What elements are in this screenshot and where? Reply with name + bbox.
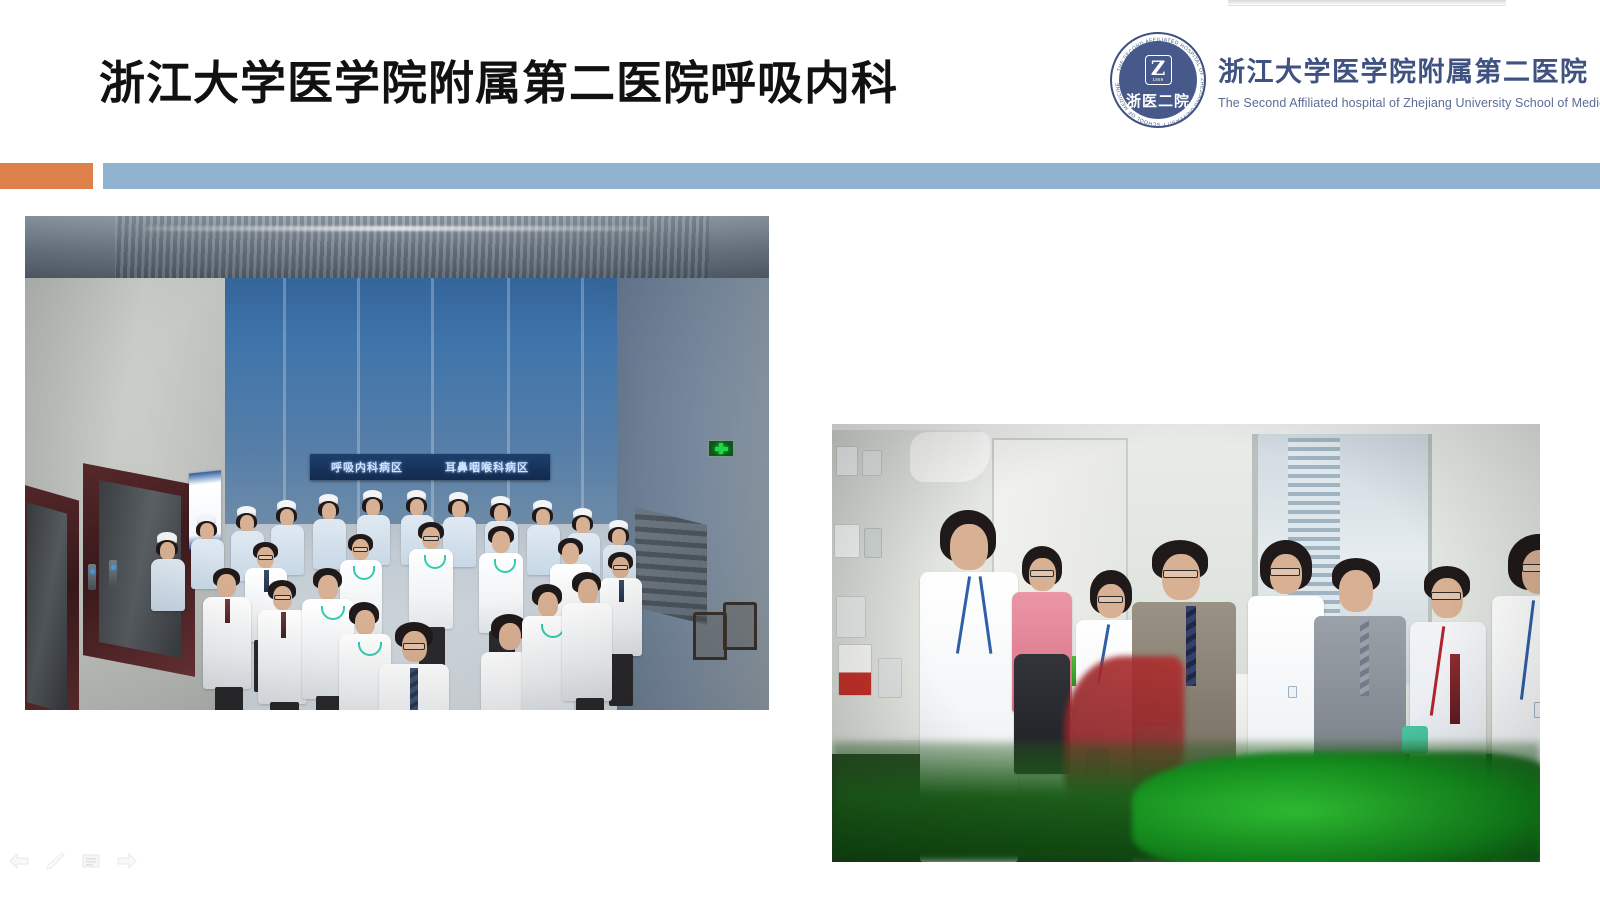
hospital-logo-lockup: THE SECOND AFFILIATED HOSPITAL OF ZHEJIA… (1110, 32, 1600, 128)
staff-badge (1534, 702, 1540, 718)
ward-sign-respiratory: 呼吸内科病区 (331, 459, 403, 475)
hospital-name-cn: 浙江大学医学院附属第二医院 (1218, 50, 1600, 89)
emergency-exit-icon (708, 440, 734, 457)
glass-mullion (357, 244, 360, 524)
page-title: 浙江大学医学院附属第二医院呼吸内科 (99, 58, 898, 109)
glasses-icon (1270, 568, 1300, 576)
glasses-icon (274, 595, 291, 600)
top-chrome-bar (1228, 0, 1506, 6)
reagent-bottle (836, 596, 866, 638)
elevator-call-button-1[interactable] (88, 564, 96, 590)
glasses-icon (613, 565, 628, 570)
hospital-name-en: The Second Affiliated hospital of Zhejia… (1218, 96, 1600, 110)
glass-mullion (581, 244, 584, 524)
reagent-bottle (864, 528, 882, 558)
glasses-icon (258, 555, 273, 560)
glasses-icon (1098, 596, 1123, 603)
foreground-blur-green (1132, 752, 1540, 862)
glasses-icon (1522, 564, 1540, 572)
next-arrow-icon[interactable] (116, 851, 138, 871)
chair (693, 612, 727, 660)
ward-signboard: 呼吸内科病区 耳鼻咽喉科病区 (310, 454, 550, 480)
glass-mullion (283, 244, 286, 524)
accent-bar-blue (103, 163, 1600, 189)
reagent-bottle (862, 450, 882, 476)
pen-icon[interactable] (44, 851, 66, 871)
corridor-ceiling (25, 216, 769, 278)
logo-z-mark: Z 1869 (1145, 55, 1172, 85)
glass-mullion (507, 244, 510, 524)
glasses-icon (1431, 592, 1461, 600)
reagent-bottle (834, 524, 860, 558)
elevator-door-1 (27, 502, 67, 710)
accent-bar-orange (0, 163, 93, 189)
previous-arrow-icon[interactable] (8, 851, 30, 871)
plastic-bag (910, 432, 990, 482)
glasses-icon (423, 536, 439, 541)
ward-sign-ent: 耳鼻咽喉科病区 (445, 459, 529, 475)
department-team-photo[interactable]: 呼吸内科病区 耳鼻咽喉科病区 (25, 216, 769, 710)
logo-text-block: 浙江大学医学院附属第二医院 The Second Affiliated hosp… (1218, 50, 1600, 110)
glasses-icon (353, 547, 368, 552)
waiting-chairs (693, 598, 769, 682)
menu-icon[interactable] (80, 851, 102, 871)
glasses-icon (1030, 570, 1054, 577)
elevator-call-button-2[interactable] (109, 560, 117, 586)
logo-year: 1869 (1153, 77, 1164, 82)
reagent-bottle-red (838, 644, 872, 696)
logo-cn-mark: 浙医二院 (1112, 90, 1204, 111)
reagent-bottle (836, 446, 858, 476)
ceiling-light-strip (145, 226, 649, 231)
reagent-bottle (878, 658, 902, 698)
glasses-icon (1163, 570, 1198, 578)
glass-mullion (431, 244, 434, 524)
slideshow-toolbar (8, 851, 138, 871)
laboratory-team-photo[interactable] (832, 424, 1540, 862)
chair (723, 602, 757, 650)
staff-badge (1288, 686, 1297, 698)
glasses-icon (403, 643, 425, 650)
hospital-logo-icon: THE SECOND AFFILIATED HOSPITAL OF ZHEJIA… (1110, 32, 1206, 128)
presentation-slide: 浙江大学医学院附属第二医院呼吸内科 THE SECOND AFFILIATED … (0, 0, 1600, 900)
logo-letter: Z (1151, 59, 1166, 77)
